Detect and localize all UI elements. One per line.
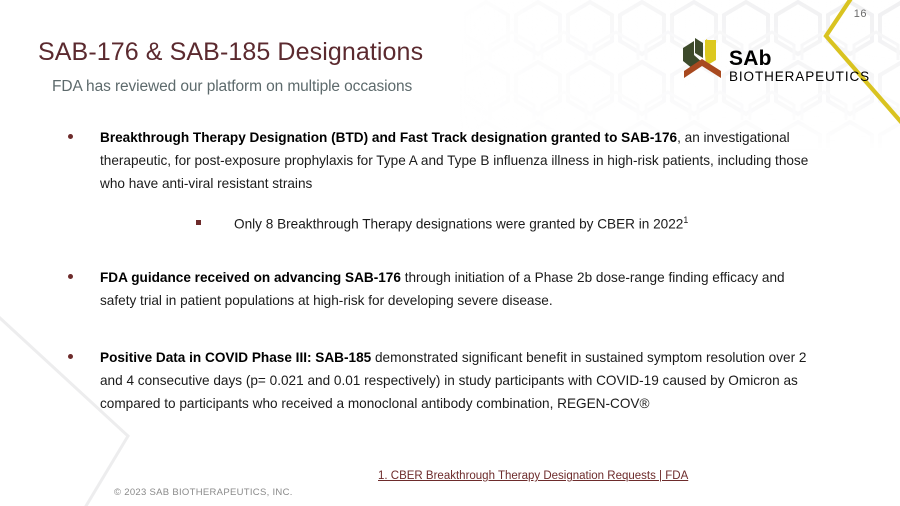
bullet-item: Positive Data in COVID Phase III: SAB-18… <box>62 346 842 415</box>
bullet-text: Breakthrough Therapy Designation (BTD) a… <box>100 126 812 195</box>
sab-arrow-mark-icon <box>681 36 727 80</box>
sub-bullet-text: Only 8 Breakthrough Therapy designations… <box>234 213 842 235</box>
bullet-text: FDA guidance received on advancing SAB-1… <box>100 266 812 312</box>
footnote-reference: 1 <box>683 215 688 225</box>
bullet-list: Breakthrough Therapy Designation (BTD) a… <box>62 126 842 415</box>
bullet-dot-marker <box>68 274 73 279</box>
copyright-notice: © 2023 SAB BIOTHERAPEUTICS, INC. <box>114 487 293 498</box>
logo-name-secondary: BIOTHERAPEUTICS <box>729 70 870 84</box>
company-logo: SAb BIOTHERAPEUTICS <box>681 36 870 84</box>
slide-title: SAB-176 & SAB-185 Designations <box>38 38 423 67</box>
citation-link[interactable]: 1. CBER Breakthrough Therapy Designation… <box>378 470 688 482</box>
slide-subtitle: FDA has reviewed our platform on multipl… <box>52 78 412 96</box>
page-number: 16 <box>854 8 867 20</box>
bullet-text-bold: Breakthrough Therapy Designation (BTD) a… <box>100 130 677 145</box>
sub-bullet-square-marker <box>196 220 201 225</box>
logo-wordmark: SAb BIOTHERAPEUTICS <box>729 48 870 84</box>
bullet-dot-marker <box>68 134 73 139</box>
sub-bullet-text-body: Only 8 Breakthrough Therapy designations… <box>234 217 683 232</box>
bullet-item: FDA guidance received on advancing SAB-1… <box>62 266 842 312</box>
slide-canvas: 16 SAb BIOTHERAPEUTICS SAB-176 & SAB-185… <box>0 0 900 506</box>
bullet-text-bold: Positive Data in COVID Phase III: SAB-18… <box>100 350 371 365</box>
bullet-item: Breakthrough Therapy Designation (BTD) a… <box>62 126 842 236</box>
sub-bullet-item: Only 8 Breakthrough Therapy designations… <box>100 213 842 235</box>
bullet-text: Positive Data in COVID Phase III: SAB-18… <box>100 346 812 415</box>
logo-name-primary: SAb <box>729 48 870 69</box>
bullet-text-bold: FDA guidance received on advancing SAB-1… <box>100 270 401 285</box>
bullet-dot-marker <box>68 354 73 359</box>
